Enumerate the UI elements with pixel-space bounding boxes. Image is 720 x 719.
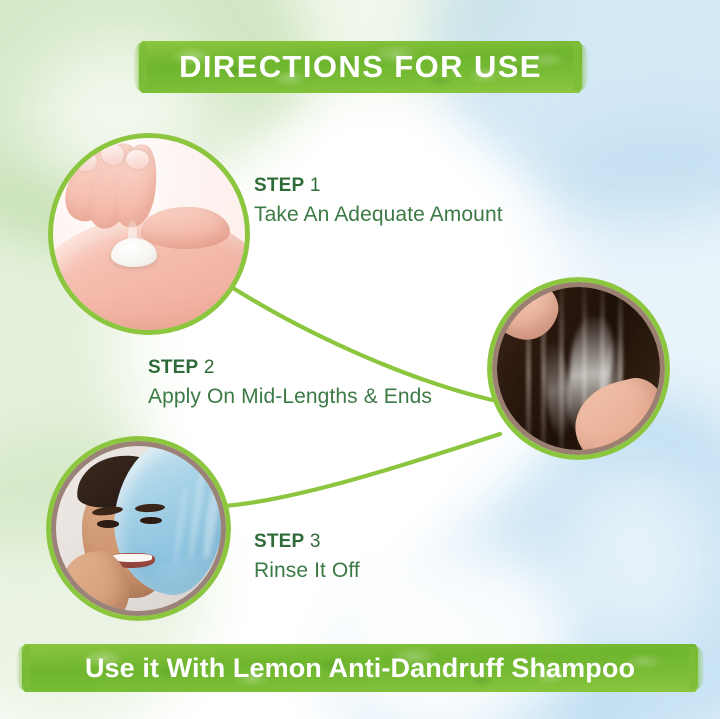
eye-shape (97, 520, 118, 527)
step-1-description: Take An Adequate Amount (254, 201, 503, 228)
fingernail-shape (500, 291, 517, 305)
step-1-caption: STEP 1 Take An Adequate Amount (254, 175, 503, 228)
connector-step3-to-step2 (224, 434, 500, 506)
step-1-photo (53, 138, 245, 330)
hand-with-shampoo-image (53, 138, 245, 330)
footer-cta-banner: Use it With Lemon Anti-Dandruff Shampoo (22, 644, 698, 692)
step-1-number: 1 (310, 175, 321, 196)
step-3-heading: STEP 3 (254, 531, 360, 554)
step-1-photo-circle (48, 133, 250, 335)
step-3-label: STEP (254, 531, 304, 552)
step-2-description: Apply On Mid-Lengths & Ends (148, 383, 432, 410)
towel-fold (201, 476, 221, 560)
step-3-caption: STEP 3 Rinse It Off (254, 531, 360, 584)
step-2-label: STEP (148, 357, 198, 378)
step-3-description: Rinse It Off (254, 557, 360, 584)
thumb-shape (141, 207, 229, 249)
cream-dollop (111, 238, 157, 267)
step-3-number: 3 (310, 531, 321, 552)
woman-with-towel-image (56, 446, 221, 611)
page-title: DIRECTIONS FOR USE (179, 49, 542, 85)
wet-hair-image (497, 287, 660, 450)
infographic-canvas: DIRECTIONS FOR USE (0, 0, 720, 719)
step-2-number: 2 (204, 357, 215, 378)
step-3-photo (56, 446, 221, 611)
step-2-photo (497, 287, 660, 450)
title-banner: DIRECTIONS FOR USE (139, 41, 582, 93)
step-1-label: STEP (254, 175, 304, 196)
towel-fold (172, 487, 189, 565)
footer-cta-text: Use it With Lemon Anti-Dandruff Shampoo (85, 653, 635, 684)
step-2-photo-circle (487, 277, 670, 460)
step-2-heading: STEP 2 (148, 357, 432, 380)
step-1-heading: STEP 1 (254, 175, 503, 198)
step-3-photo-circle (46, 436, 231, 621)
step-2-caption: STEP 2 Apply On Mid-Lengths & Ends (148, 357, 432, 410)
